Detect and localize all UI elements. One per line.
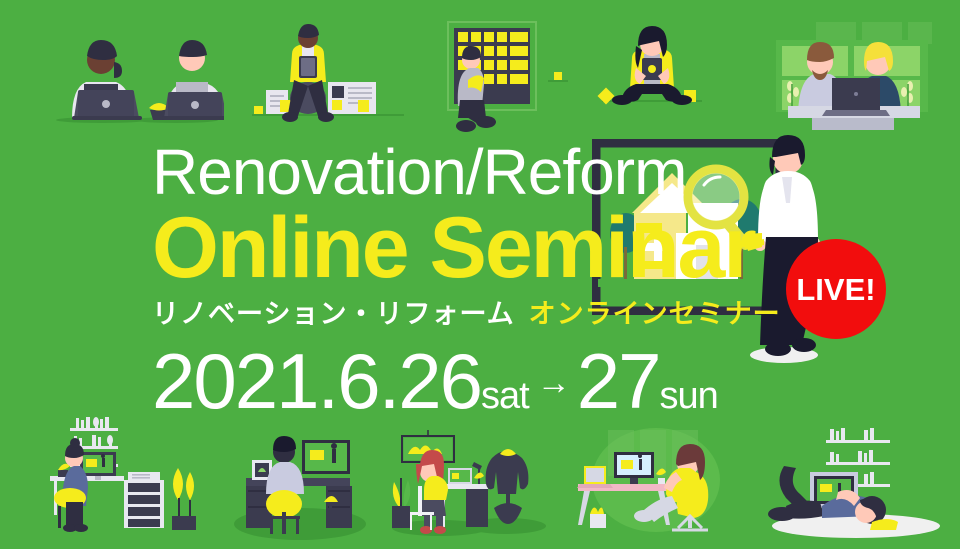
event-end-date: 27 <box>577 337 660 425</box>
person-sitting-crosslegged-with-phone-illustration <box>592 24 712 132</box>
two-people-at-laptops-illustration <box>44 22 224 130</box>
person-lying-down-with-laptop-illustration <box>760 414 952 540</box>
japanese-subtitle-line: リノベーション・リフォームオンラインセミナー <box>152 298 852 330</box>
status-badge: LIVE! <box>786 239 886 339</box>
event-date-line: 2021.6.26sat→27sun <box>152 342 852 420</box>
person-relaxing-in-chair-watching-monitor-illustration <box>560 424 744 540</box>
event-start-day: sat <box>481 375 529 417</box>
live-badge-label: LIVE! <box>796 274 875 305</box>
page-subtitle: Online Seminar <box>152 202 852 294</box>
person-at-sticky-note-board-illustration <box>444 14 572 138</box>
title-block: Renovation/Reform Online Seminar リノベーション… <box>152 136 852 420</box>
japanese-title-main: リノベーション・リフォーム <box>152 299 515 329</box>
date-range-arrow-icon: → <box>537 364 571 402</box>
page-title: Renovation/Reform <box>152 136 852 208</box>
home-office-with-bookshelf-illustration <box>44 410 212 540</box>
person-sitting-with-tablet-illustration <box>252 24 404 132</box>
seminar-banner: Renovation/Reform Online Seminar リノベーション… <box>0 0 960 549</box>
person-at-dark-desk-with-monitor-illustration <box>228 424 380 540</box>
two-colleagues-at-desk-with-laptop-illustration <box>760 18 956 130</box>
event-end-day: sun <box>659 375 717 417</box>
person-at-desk-with-plant-and-coat-illustration <box>388 424 552 540</box>
event-start-date: 2021.6.26 <box>152 337 481 425</box>
japanese-title-sub: オンラインセミナー <box>529 299 781 329</box>
